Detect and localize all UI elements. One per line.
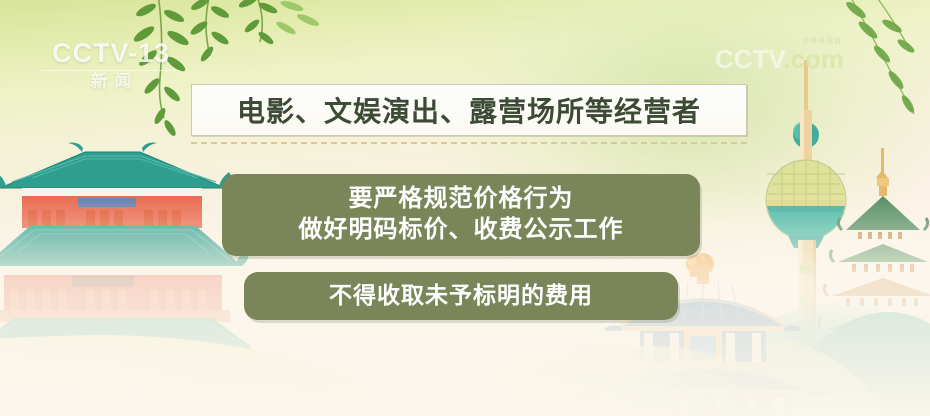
hill-teal-right-front bbox=[790, 312, 930, 416]
hill-green-middle bbox=[560, 330, 890, 416]
cctv-logo-rule bbox=[42, 70, 180, 71]
temple-finial-small bbox=[684, 253, 706, 277]
oriental-pearl-tower-illustration bbox=[752, 60, 862, 360]
headline-box: 电影、文娱演出、露营场所等经营者 bbox=[191, 84, 747, 136]
broadcast-screen: CCTV-13 新闻 CCTV.com 中央电视台 电影、文娱演出、露营场所等经… bbox=[0, 0, 930, 416]
watermark-suffix: .com bbox=[783, 44, 844, 74]
headline-container: 电影、文娱演出、露营场所等经营者 bbox=[191, 84, 747, 144]
hill-teal-right bbox=[700, 300, 930, 416]
willow-branches-right-illustration bbox=[830, 0, 930, 156]
cloud-swoosh bbox=[357, 330, 783, 416]
statement-line-2: 做好明码标价、收费公示工作 bbox=[299, 215, 624, 246]
cctv-com-watermark: CCTV.com 中央电视台 bbox=[715, 44, 844, 75]
watermark-text: CCTV bbox=[715, 44, 783, 74]
hill-yellow-left-front bbox=[0, 343, 283, 416]
cctv-logo-sub: 新闻 bbox=[36, 73, 186, 92]
pagoda-temple-left-lower-tiers bbox=[0, 358, 300, 416]
cctv-logo-main: CCTV-13 bbox=[36, 40, 186, 67]
watermark-tiny-text: 中央电视台 bbox=[802, 36, 842, 46]
cctv-channel-logo: CCTV-13 新闻 bbox=[36, 40, 186, 92]
hill-yellow-left bbox=[0, 324, 412, 416]
statement-line-3: 不得收取未予标明的费用 bbox=[329, 281, 593, 310]
pagoda-temple-left-illustration bbox=[0, 118, 250, 416]
statement-line-1: 要严格规范价格行为 bbox=[349, 184, 574, 215]
statement-box-fees: 不得收取未予标明的费用 bbox=[244, 272, 678, 320]
headline-text: 电影、文娱演出、露营场所等经营者 bbox=[237, 90, 701, 130]
headline-dashed-rule bbox=[191, 142, 747, 144]
hill-green-middle-front bbox=[470, 355, 760, 416]
tiered-pagoda-right-illustration bbox=[818, 148, 930, 378]
statement-box-pricing: 要严格规范价格行为 做好明码标价、收费公示工作 bbox=[222, 174, 700, 256]
mist-patch bbox=[300, 330, 560, 416]
